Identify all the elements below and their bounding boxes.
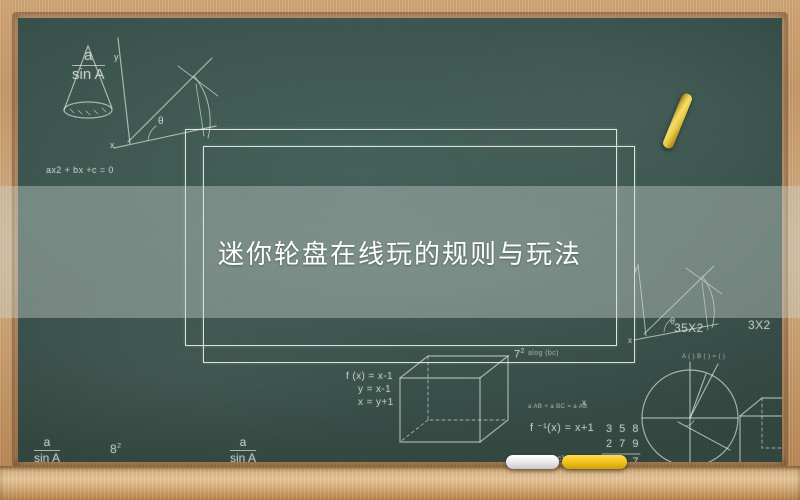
tl-y-axis [118,38,130,144]
br-chord [678,422,730,450]
chalk-function-line-1: f (x) = x-1 [346,371,393,382]
chalk-fraction-a-sinA-top: a sin A [72,48,105,83]
cone-right-edge [88,46,112,108]
cone-base-hatch [70,108,106,115]
chalk-axis-label-x-circle: x [582,398,586,407]
white-chalk-piece [506,455,559,469]
br-radius-b [690,374,706,418]
chalk-quadratic-equation: ax2 + bx +c = 0 [46,165,114,175]
cone-left-edge [64,46,88,110]
cube-right-face [480,356,508,442]
page-title-text: 迷你轮盘在线玩的规则与玩法 [218,234,582,271]
cube-hidden-edge-2 [400,420,428,442]
chalk-label-3x2: 3X2 [748,318,771,332]
cube-hidden-edges [428,356,508,420]
chalk-axis-label-x-topleft: x [110,140,115,150]
chalk-function-line-3: x = y+1 [358,397,394,408]
chalk-label-35x2: 35X2 [674,321,704,335]
tl-cross-line [178,66,218,96]
chalk-small-expression: a AB + a BC = a AB [528,404,588,410]
page-title: 迷你轮盘在线玩的规则与玩法 [0,186,800,318]
chalk-fraction-a-sinA-bottom-left: a sin A [34,436,60,462]
br-cube-hidden [762,398,782,448]
chalk-function-line-2: y = x-1 [358,384,391,395]
chalk-matrix-note: A ( ) B ( ) = ( ) [682,354,725,360]
tl-angle-arc [148,126,156,140]
br-radius-a [690,364,718,418]
chalk-angle-label-topleft: θ [158,116,164,127]
br-cube-front [740,416,782,462]
wooden-chalk-ledge [0,466,800,500]
chalk-exponent-eight: 82 [110,442,121,456]
cone-base-ellipse [64,102,112,118]
r-angle-arc [664,320,670,332]
br-angle-arc [686,420,694,426]
chalk-sum-addend-2: 2 7 9 [606,438,640,450]
br-circle [642,370,738,462]
r-x-axis [634,324,718,340]
br-cube-top [740,398,782,416]
chalk-fraction-a-sinA-bottom-center: a sin A [230,436,256,462]
chalk-axis-label-y-topleft: y [114,52,119,62]
chalk-sum-addend-1: 3 5 8 [606,423,640,435]
chalkboard-banner: a sin A ax2 + bx +c = 0 y x θ f (x) = x-… [0,0,800,500]
chalk-inverse-function: f ⁻¹(x) = x+1 [530,421,594,434]
cube-front-face [400,378,480,442]
yellow-chalk-piece [562,455,627,469]
